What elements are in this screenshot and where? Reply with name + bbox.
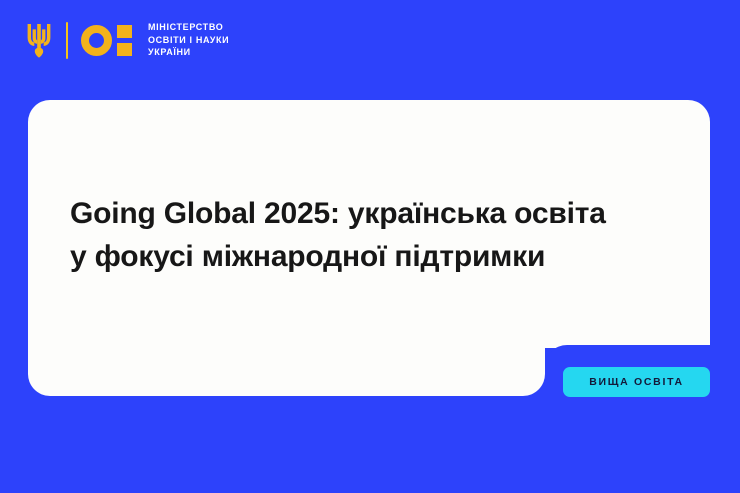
- ministry-name: Міністерство Освіти і науки України: [148, 21, 229, 59]
- ministry-logo-lockup[interactable]: Міністерство Освіти і науки України: [26, 16, 229, 64]
- ministry-line-3: України: [148, 46, 229, 59]
- logo-divider: [66, 22, 68, 59]
- news-card-banner: Міністерство Освіти і науки України Goin…: [0, 0, 740, 493]
- ministry-line-2: Освіти і науки: [148, 34, 229, 47]
- page-title: Going Global 2025: українська освіта у ф…: [70, 192, 610, 278]
- card-surface-shoulder: [523, 300, 710, 348]
- ministry-line-1: Міністерство: [148, 21, 229, 34]
- ukraine-trident-icon: [26, 22, 52, 58]
- monogram-o-ring: [81, 25, 112, 56]
- monogram-e-bars: [117, 25, 132, 56]
- category-tag[interactable]: Вища освіта: [563, 367, 710, 397]
- monogram-bar-top: [117, 25, 132, 38]
- category-tag-label: Вища освіта: [589, 376, 684, 388]
- card-surface-lower: [28, 323, 545, 396]
- monogram-bar-bottom: [117, 43, 132, 56]
- oe-monogram-icon: [81, 23, 132, 57]
